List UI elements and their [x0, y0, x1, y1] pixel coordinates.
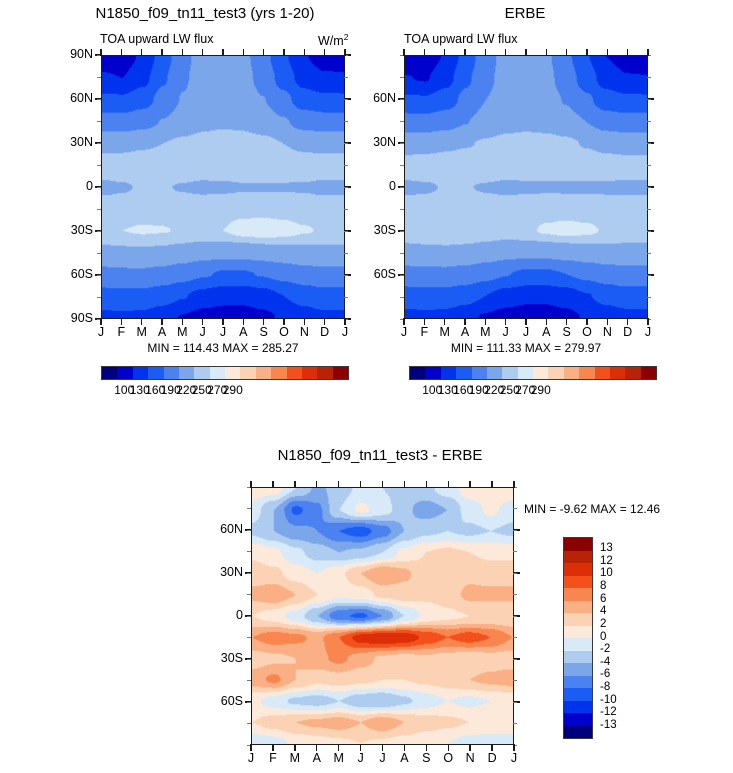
y-axis-minor-tick [400, 121, 404, 122]
y-axis-label: 30N [201, 565, 243, 579]
y-axis-minor-tick [400, 253, 404, 254]
x-axis-tick [426, 744, 427, 751]
x-axis-label: F [414, 325, 434, 339]
colorbar-diff-swatch [564, 563, 592, 576]
y-axis-minor-tick [647, 209, 651, 210]
x-axis-tick [586, 49, 587, 56]
panel-model-subtitle: TOA upward LW flux [100, 32, 213, 46]
y-axis-minor-tick [344, 121, 348, 122]
panel-obs-field [405, 56, 647, 318]
y-axis-minor-tick [400, 187, 404, 188]
x-axis-label: J [373, 751, 393, 765]
y-axis-minor-tick [97, 209, 101, 210]
x-axis-tick [546, 49, 547, 56]
colorbar-main-swatch [133, 367, 148, 379]
y-axis-minor-tick [647, 121, 651, 122]
y-axis-minor-tick [647, 275, 651, 276]
x-axis-tick [469, 481, 470, 488]
y-axis-minor-tick [247, 530, 251, 531]
colorbar-tick-label: -2 [600, 643, 610, 655]
y-axis-minor-tick [97, 165, 101, 166]
y-axis-minor-tick [97, 99, 101, 100]
x-axis-label: S [557, 325, 577, 339]
x-axis-tick [491, 481, 492, 488]
y-axis-label: 60N [201, 522, 243, 536]
x-axis-tick [444, 49, 445, 56]
y-axis-minor-tick [513, 508, 517, 509]
units-exponent: 2 [344, 32, 349, 42]
y-axis-label: 30N [51, 135, 93, 149]
x-axis-label: M [285, 751, 305, 765]
x-axis-tick [294, 744, 295, 751]
x-axis-label: D [618, 325, 638, 339]
x-axis-tick [491, 744, 492, 751]
colorbar-main-swatch [317, 367, 332, 379]
x-axis-tick [485, 49, 486, 56]
y-axis-minor-tick [647, 231, 651, 232]
x-axis-label: M [172, 325, 192, 339]
x-axis-label: M [329, 751, 349, 765]
x-axis-label: J [394, 325, 414, 339]
x-axis-tick [627, 318, 628, 325]
panel-model-field [102, 56, 344, 318]
x-axis-tick [360, 481, 361, 488]
x-axis-tick [513, 744, 514, 751]
y-axis-minor-tick [247, 723, 251, 724]
y-axis-minor-tick [247, 594, 251, 595]
colorbar-diff-swatch [564, 538, 592, 551]
colorbar-diff-swatch [564, 676, 592, 689]
x-axis-label: O [274, 325, 294, 339]
y-axis-label: 60S [201, 694, 243, 708]
y-axis-label: 30S [354, 223, 396, 237]
panel-model-units: W/m2 [318, 32, 348, 48]
x-axis-tick [141, 49, 142, 56]
x-axis-tick [586, 318, 587, 325]
panel-obs-title: ERBE [400, 5, 650, 22]
colorbar-diff-swatch [564, 638, 592, 651]
colorbar-diff-swatch [564, 713, 592, 726]
panel-diff-minmax: MIN = -9.62 MAX = 12.46 [524, 502, 699, 516]
x-axis-tick [513, 481, 514, 488]
colorbar-main-swatch [256, 367, 271, 379]
x-axis-tick [324, 49, 325, 56]
y-axis-minor-tick [97, 275, 101, 276]
y-axis-minor-tick [400, 275, 404, 276]
x-axis-label: J [496, 325, 516, 339]
x-axis-label: N [294, 325, 314, 339]
y-axis-minor-tick [513, 594, 517, 595]
x-axis-label: A [455, 325, 475, 339]
y-axis-minor-tick [344, 187, 348, 188]
x-axis-tick [426, 481, 427, 488]
colorbar-main-swatch [194, 367, 209, 379]
x-axis-tick [202, 318, 203, 325]
colorbar-main-swatch [102, 367, 117, 379]
panel-diff-colorbar [563, 537, 593, 739]
colorbar-main-swatch [287, 367, 302, 379]
y-axis-label: 90N [51, 47, 93, 61]
y-axis-label: 60N [354, 91, 396, 105]
colorbar-tick-label: -13 [600, 719, 617, 731]
y-axis-label: 30S [201, 651, 243, 665]
colorbar-diff-swatch [564, 601, 592, 614]
y-axis-minor-tick [97, 121, 101, 122]
colorbar-diff-swatch [564, 613, 592, 626]
x-axis-tick [382, 744, 383, 751]
colorbar-tick-label: 0 [600, 631, 606, 643]
x-axis-tick [464, 318, 465, 325]
panel-obs-subtitle: TOA upward LW flux [404, 32, 517, 46]
colorbar-tick-label: -6 [600, 668, 610, 680]
y-axis-label: 0 [354, 179, 396, 193]
x-axis-label: M [132, 325, 152, 339]
x-axis-tick [250, 744, 251, 751]
x-axis-tick [263, 49, 264, 56]
x-axis-tick [607, 318, 608, 325]
x-axis-tick [304, 318, 305, 325]
x-axis-label: J [638, 325, 658, 339]
x-axis-tick [382, 481, 383, 488]
colorbar-diff-swatch [564, 688, 592, 701]
colorbar-main-swatch [425, 367, 440, 379]
x-axis-tick [263, 318, 264, 325]
y-axis-label: 30N [354, 135, 396, 149]
colorbar-main-swatch [487, 367, 502, 379]
y-axis-label: 60S [51, 267, 93, 281]
panel-obs-minmax: MIN = 111.33 MAX = 279.97 [404, 341, 648, 355]
colorbar-main-swatch [333, 367, 348, 379]
colorbar-tick-label: -4 [600, 656, 610, 668]
x-axis-label: S [254, 325, 274, 339]
x-axis-tick [304, 49, 305, 56]
y-axis-minor-tick [344, 143, 348, 144]
y-axis-minor-tick [513, 702, 517, 703]
colorbar-main-swatch [641, 367, 656, 379]
y-axis-minor-tick [97, 187, 101, 188]
x-axis-label: M [435, 325, 455, 339]
x-axis-label: S [416, 751, 436, 765]
y-axis-minor-tick [513, 530, 517, 531]
colorbar-tick-label: 2 [600, 618, 606, 630]
x-axis-tick [448, 744, 449, 751]
panel-obs-colorbar [409, 366, 657, 380]
colorbar-diff-swatch [564, 551, 592, 564]
y-axis-minor-tick [513, 723, 517, 724]
colorbar-diff-swatch [564, 663, 592, 676]
x-axis-tick [243, 318, 244, 325]
x-axis-tick [121, 318, 122, 325]
x-axis-tick [121, 49, 122, 56]
x-axis-tick [464, 49, 465, 56]
panel-diff-field [252, 488, 513, 744]
y-axis-minor-tick [513, 659, 517, 660]
colorbar-main-swatch [225, 367, 240, 379]
colorbar-main-swatch [456, 367, 471, 379]
x-axis-label: J [193, 325, 213, 339]
x-axis-tick [100, 318, 101, 325]
x-axis-label: J [504, 751, 524, 765]
y-axis-minor-tick [647, 187, 651, 188]
y-axis-label: 0 [51, 179, 93, 193]
x-axis-tick [100, 49, 101, 56]
y-axis-minor-tick [647, 99, 651, 100]
colorbar-main-swatch [117, 367, 132, 379]
y-axis-minor-tick [247, 702, 251, 703]
x-axis-tick [161, 318, 162, 325]
x-axis-tick [404, 744, 405, 751]
x-axis-label: J [351, 751, 371, 765]
x-axis-tick [505, 318, 506, 325]
y-axis-minor-tick [344, 253, 348, 254]
x-axis-tick [627, 49, 628, 56]
colorbar-tick-label: -10 [600, 694, 617, 706]
x-axis-tick [448, 481, 449, 488]
panel-diff-title: N1850_f09_tn11_test3 - ERBE [230, 447, 530, 464]
y-axis-minor-tick [647, 253, 651, 254]
x-axis-tick [294, 481, 295, 488]
x-axis-tick [607, 49, 608, 56]
x-axis-label: J [335, 325, 355, 339]
x-axis-tick [222, 318, 223, 325]
x-axis-tick [202, 49, 203, 56]
units-text: W/m [318, 34, 344, 48]
y-axis-minor-tick [344, 231, 348, 232]
x-axis-label: D [482, 751, 502, 765]
colorbar-diff-swatch [564, 588, 592, 601]
x-axis-tick [316, 481, 317, 488]
x-axis-label: F [111, 325, 131, 339]
x-axis-tick [403, 49, 404, 56]
x-axis-tick [316, 744, 317, 751]
x-axis-tick [360, 744, 361, 751]
x-axis-tick [505, 49, 506, 56]
x-axis-label: J [516, 325, 536, 339]
y-axis-minor-tick [513, 551, 517, 552]
x-axis-tick [272, 481, 273, 488]
x-axis-tick [525, 49, 526, 56]
colorbar-main-swatch [533, 367, 548, 379]
y-axis-minor-tick [513, 616, 517, 617]
y-axis-minor-tick [344, 165, 348, 166]
x-axis-tick [404, 481, 405, 488]
y-axis-minor-tick [97, 77, 101, 78]
colorbar-diff-swatch [564, 701, 592, 714]
colorbar-main-swatch [595, 367, 610, 379]
colorbar-main-swatch [410, 367, 425, 379]
panel-model-colorbar [101, 366, 349, 380]
x-axis-label: A [152, 325, 172, 339]
colorbar-tick-label: 8 [600, 580, 606, 592]
colorbar-tick-label: 290 [213, 383, 253, 397]
y-axis-label: 60S [354, 267, 396, 281]
x-axis-tick [222, 49, 223, 56]
y-axis-minor-tick [400, 165, 404, 166]
x-axis-tick [647, 49, 648, 56]
y-axis-minor-tick [647, 143, 651, 144]
x-axis-label: O [577, 325, 597, 339]
x-axis-tick [141, 318, 142, 325]
colorbar-main-swatch [210, 367, 225, 379]
x-axis-tick [424, 318, 425, 325]
y-axis-label: 0 [201, 608, 243, 622]
colorbar-tick-label: 6 [600, 593, 606, 605]
y-axis-label: 90S [51, 311, 93, 325]
x-axis-tick [283, 49, 284, 56]
colorbar-main-swatch [579, 367, 594, 379]
colorbar-tick-label: 4 [600, 605, 606, 617]
y-axis-minor-tick [247, 637, 251, 638]
x-axis-tick [344, 318, 345, 325]
x-axis-tick [403, 318, 404, 325]
y-axis-minor-tick [647, 297, 651, 298]
colorbar-main-swatch [441, 367, 456, 379]
y-axis-minor-tick [247, 508, 251, 509]
colorbar-tick-label: -12 [600, 706, 617, 718]
colorbar-main-swatch [548, 367, 563, 379]
y-axis-minor-tick [400, 143, 404, 144]
y-axis-minor-tick [344, 77, 348, 78]
colorbar-main-swatch [179, 367, 194, 379]
colorbar-tick-label: 12 [600, 555, 613, 567]
colorbar-main-swatch [472, 367, 487, 379]
y-axis-minor-tick [513, 680, 517, 681]
x-axis-tick [324, 318, 325, 325]
panel-diff-plot [251, 487, 514, 745]
colorbar-main-swatch [148, 367, 163, 379]
x-axis-tick [250, 481, 251, 488]
x-axis-tick [525, 318, 526, 325]
x-axis-label: A [307, 751, 327, 765]
colorbar-main-swatch [271, 367, 286, 379]
x-axis-tick [469, 744, 470, 751]
x-axis-label: J [241, 751, 261, 765]
y-axis-minor-tick [344, 275, 348, 276]
x-axis-tick [182, 318, 183, 325]
colorbar-diff-swatch [564, 651, 592, 664]
y-axis-label: 30S [51, 223, 93, 237]
x-axis-tick [272, 744, 273, 751]
y-axis-minor-tick [247, 659, 251, 660]
y-axis-minor-tick [344, 99, 348, 100]
y-axis-minor-tick [400, 297, 404, 298]
colorbar-main-swatch [502, 367, 517, 379]
y-axis-minor-tick [344, 209, 348, 210]
y-axis-minor-tick [97, 231, 101, 232]
x-axis-label: N [597, 325, 617, 339]
colorbar-main-swatch [518, 367, 533, 379]
colorbar-main-swatch [564, 367, 579, 379]
y-axis-minor-tick [513, 637, 517, 638]
x-axis-label: D [315, 325, 335, 339]
colorbar-tick-label: 13 [600, 542, 613, 554]
colorbar-tick-label: -8 [600, 681, 610, 693]
x-axis-tick [444, 318, 445, 325]
panel-model-plot [101, 55, 345, 319]
colorbar-tick-label: 290 [521, 383, 561, 397]
x-axis-tick [338, 744, 339, 751]
colorbar-diff-swatch [564, 626, 592, 639]
x-axis-tick [546, 318, 547, 325]
y-axis-minor-tick [344, 297, 348, 298]
x-axis-tick [182, 49, 183, 56]
colorbar-diff-swatch [564, 726, 592, 739]
colorbar-main-swatch [164, 367, 179, 379]
x-axis-tick [566, 49, 567, 56]
colorbar-main-swatch [610, 367, 625, 379]
y-axis-minor-tick [247, 680, 251, 681]
colorbar-diff-swatch [564, 576, 592, 589]
y-axis-minor-tick [647, 77, 651, 78]
panel-model-minmax: MIN = 114.43 MAX = 285.27 [101, 341, 345, 355]
y-axis-minor-tick [97, 143, 101, 144]
x-axis-tick [485, 318, 486, 325]
y-axis-minor-tick [247, 573, 251, 574]
y-axis-minor-tick [97, 253, 101, 254]
x-axis-label: J [213, 325, 233, 339]
y-axis-minor-tick [513, 573, 517, 574]
x-axis-tick [647, 318, 648, 325]
panel-obs-plot [404, 55, 648, 319]
x-axis-label: M [475, 325, 495, 339]
x-axis-label: N [460, 751, 480, 765]
x-axis-label: O [438, 751, 458, 765]
y-axis-minor-tick [400, 99, 404, 100]
y-axis-minor-tick [247, 551, 251, 552]
colorbar-main-swatch [240, 367, 255, 379]
panel-model-title: N1850_f09_tn11_test3 (yrs 1-20) [60, 5, 350, 22]
x-axis-tick [424, 49, 425, 56]
x-axis-tick [283, 318, 284, 325]
y-axis-minor-tick [400, 209, 404, 210]
colorbar-main-swatch [625, 367, 640, 379]
y-axis-label: 60N [51, 91, 93, 105]
y-axis-minor-tick [247, 616, 251, 617]
y-axis-minor-tick [400, 231, 404, 232]
y-axis-minor-tick [97, 297, 101, 298]
x-axis-tick [161, 49, 162, 56]
x-axis-tick [243, 49, 244, 56]
x-axis-label: A [536, 325, 556, 339]
colorbar-tick-label: 10 [600, 567, 613, 579]
x-axis-tick [566, 318, 567, 325]
x-axis-tick [338, 481, 339, 488]
x-axis-label: J [91, 325, 111, 339]
y-axis-minor-tick [647, 165, 651, 166]
x-axis-tick [344, 49, 345, 56]
x-axis-label: A [394, 751, 414, 765]
y-axis-minor-tick [400, 77, 404, 78]
x-axis-label: A [233, 325, 253, 339]
colorbar-main-swatch [302, 367, 317, 379]
x-axis-label: F [263, 751, 283, 765]
